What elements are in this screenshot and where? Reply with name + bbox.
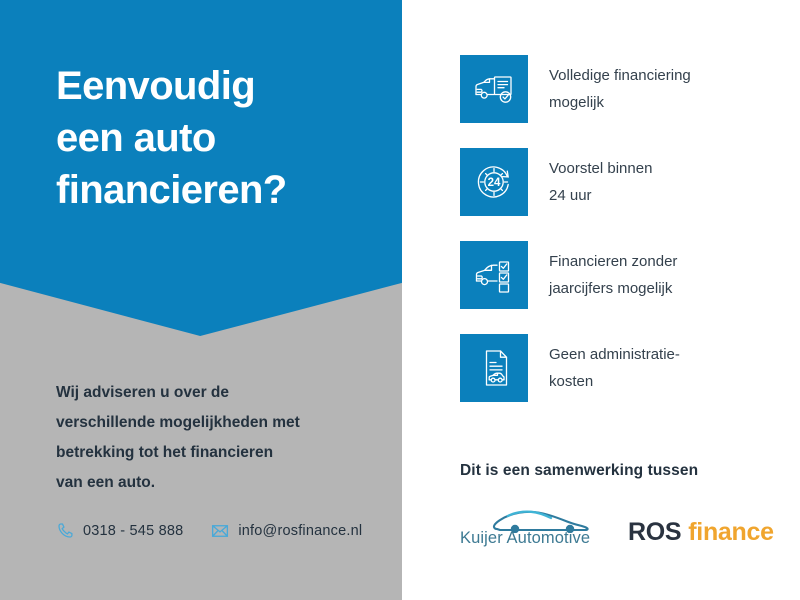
headline-line-2: een auto [56,112,386,164]
feature-item-no-annual-figures: Financieren zonder jaarcijfers mogelijk [460,241,790,309]
finance-word: finance [688,518,773,547]
contact-row: 0318 - 545 888 info@rosfinance.nl [56,522,362,540]
feature-icon-box [460,334,528,402]
contact-phone[interactable]: 0318 - 545 888 [56,522,183,540]
right-panel: Volledige financiering mogelijk [402,0,800,600]
feature-text: Financieren zonder jaarcijfers mogelijk [549,241,677,302]
feature-icon-box: 24 [460,148,528,216]
feature-list: Volledige financiering mogelijk [460,55,790,427]
feature-icon-box [460,55,528,123]
phone-number: 0318 - 545 888 [83,523,183,539]
feature-line-1: Voorstel binnen [549,155,652,182]
body-line-3: betrekking tot het financieren [56,438,376,468]
contact-email[interactable]: info@rosfinance.nl [211,522,362,540]
feature-item-24h-proposal: 24 Voorstel binnen 24 uur [460,148,790,216]
feature-line-2: mogelijk [549,89,691,116]
partnership-block: Dit is een samenwerking tussen Kuijer Au… [460,462,790,548]
feature-line-1: Financieren zonder [549,248,677,275]
body-line-1: Wij adviseren u over de [56,378,376,408]
envelope-icon [211,522,229,540]
ros-finance-logo[interactable]: ROS finance [628,518,774,548]
body-line-4: van een auto. [56,468,376,498]
kuijer-automotive-logo[interactable]: Kuijer Automotive [460,506,600,548]
email-address: info@rosfinance.nl [238,523,362,539]
van-document-check-icon [473,72,515,106]
feature-text: Volledige financiering mogelijk [549,55,691,116]
car-checklist-icon [473,257,515,293]
feature-line-1: Volledige financiering [549,62,691,89]
headline-line-1: Eenvoudig [56,60,386,112]
feature-item-no-admin-costs: Geen administratie- kosten [460,334,790,402]
feature-line-2: jaarcijfers mogelijk [549,275,677,302]
feature-text: Geen administratie- kosten [549,334,680,395]
feature-line-2: 24 uur [549,182,652,209]
body-copy: Wij adviseren u over de verschillende mo… [56,378,376,498]
feature-item-full-financing: Volledige financiering mogelijk [460,55,790,123]
headline-line-3: financieren? [56,164,386,216]
document-car-icon [476,347,512,389]
page-title: Eenvoudig een auto financieren? [56,60,386,216]
feature-line-2: kosten [549,368,680,395]
kuijer-wordmark: Kuijer Automotive [460,529,590,548]
feature-line-1: Geen administratie- [549,341,680,368]
svg-text:24: 24 [488,177,501,189]
feature-text: Voorstel binnen 24 uur [549,148,652,209]
clock-24-hours-icon: 24 [474,162,514,202]
ros-mark: ROS [628,518,681,547]
feature-icon-box [460,241,528,309]
left-panel: Eenvoudig een auto financieren? Wij advi… [0,0,402,600]
body-line-2: verschillende mogelijkheden met [56,408,376,438]
partner-logo-row: Kuijer Automotive ROS finance [460,506,790,548]
phone-icon [56,522,74,540]
partnership-heading: Dit is een samenwerking tussen [460,462,790,480]
promo-poster: Eenvoudig een auto financieren? Wij advi… [0,0,800,600]
